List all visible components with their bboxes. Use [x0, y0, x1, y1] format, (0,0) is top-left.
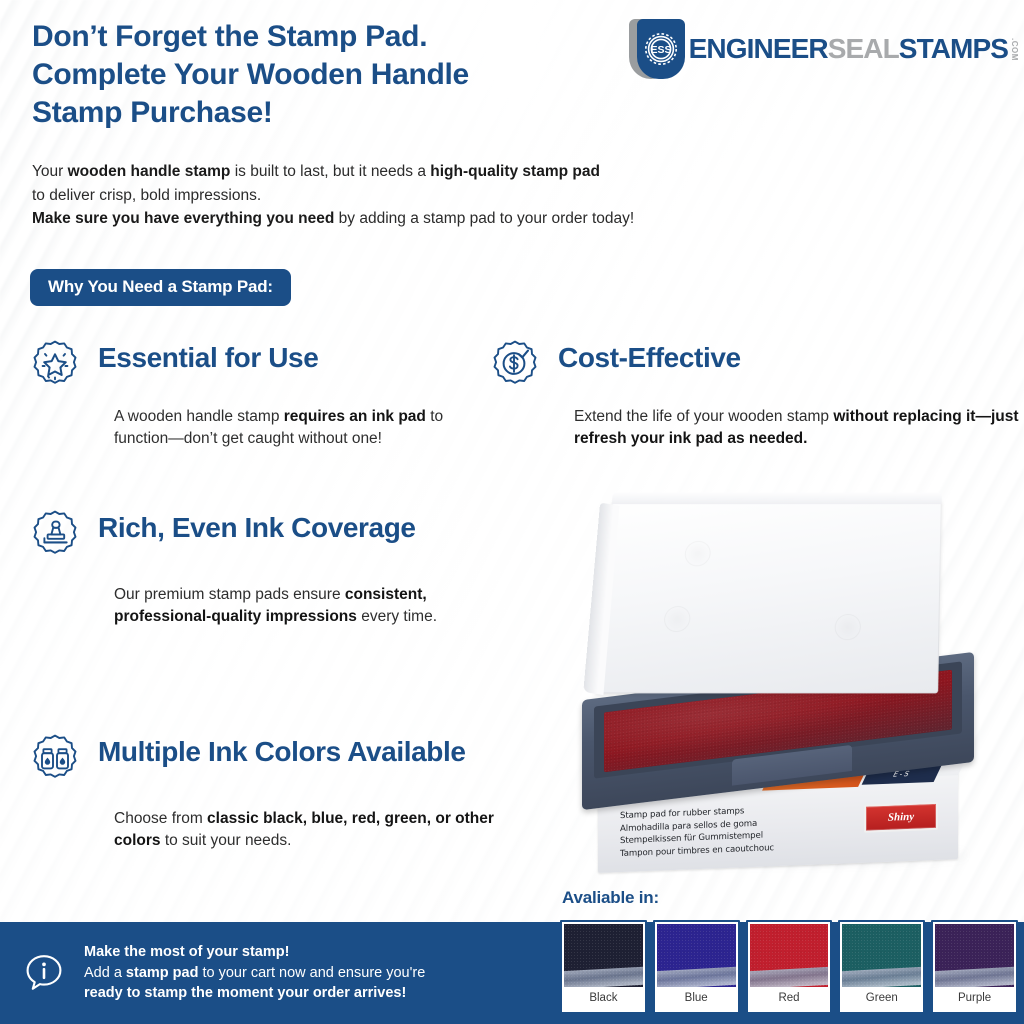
lid-emboss-mark [663, 606, 691, 632]
footer-message: Make the most of your stamp! Add a stamp… [84, 942, 425, 1004]
lid-emboss-mark [684, 541, 712, 566]
color-swatch-row: Black Blue Red Green Purple [560, 920, 1018, 1014]
feature-title: Rich, Even Ink Coverage [98, 506, 428, 543]
feature-multiple-ink-colors: Multiple Ink Colors Available Choose fro… [26, 730, 546, 853]
ink-bottles-badge-icon [26, 732, 84, 790]
lid-rim-left [583, 503, 619, 695]
feature-body: Our premium stamp pads ensure consistent… [114, 584, 494, 629]
product-image-stamp-pad: E-S Stamp pad for rubber stamps Almohadi… [556, 488, 1008, 886]
swatch-label: Red [750, 987, 829, 1010]
lid-rim-top [612, 493, 942, 504]
feature-essential-for-use: Essential for Use A wooden handle stamp … [26, 336, 496, 451]
swatch-blue[interactable]: Blue [653, 920, 740, 1014]
swatch-black[interactable]: Black [560, 920, 647, 1014]
why-you-need-badge: Why You Need a Stamp Pad: [30, 269, 291, 306]
swatch-color-fill [564, 924, 643, 987]
title-line-2: Complete Your Wooden Handle [32, 56, 632, 94]
swatch-purple[interactable]: Purple [931, 920, 1018, 1014]
footer-line-1: Make the most of your stamp! [84, 942, 425, 963]
stamp-pad-lid [595, 498, 941, 693]
logo-word-seal: SEAL [828, 35, 899, 63]
box-language-lines: Stamp pad for rubber stamps Almohadilla … [620, 804, 774, 861]
feature-body: Choose from classic black, blue, red, gr… [114, 808, 544, 853]
swatch-color-fill [842, 924, 921, 987]
feature-title: Multiple Ink Colors Available [98, 730, 498, 767]
page-title: Don’t Forget the Stamp Pad. Complete You… [32, 18, 632, 131]
swatch-green[interactable]: Green [838, 920, 925, 1014]
intro-line-3: Make sure you have everything you need b… [32, 207, 902, 231]
title-line-3: Stamp Purchase! [32, 94, 632, 132]
feature-title: Essential for Use [98, 336, 318, 373]
swatch-label: Purple [935, 987, 1014, 1010]
info-bubble-icon [22, 951, 66, 995]
intro-paragraph: Your wooden handle stamp is built to las… [32, 160, 902, 231]
feature-body: Extend the life of your wooden stamp wit… [574, 406, 1022, 451]
feature-rich-even-ink-coverage: Rich, Even Ink Coverage Our premium stam… [26, 506, 496, 629]
ess-shield-icon: ESS [625, 18, 687, 80]
swatch-label: Black [564, 987, 643, 1010]
intro-line-2: to deliver crisp, bold impressions. [32, 184, 902, 208]
title-line-1: Don’t Forget the Stamp Pad. [32, 18, 632, 56]
logo-word-engineer: ENGINEER [689, 35, 828, 63]
footer-line-3: ready to stamp the moment your order arr… [84, 983, 425, 1004]
swatch-label: Green [842, 987, 921, 1010]
swatch-color-fill [935, 924, 1014, 987]
lid-emboss-mark [834, 614, 861, 640]
promo-page: Don’t Forget the Stamp Pad. Complete You… [0, 0, 1024, 1024]
dollar-check-badge-icon [486, 338, 544, 396]
logo-word-stamps: STAMPS [899, 35, 1008, 63]
footer-line-2: Add a stamp pad to your cart now and ens… [84, 963, 425, 984]
swatch-color-fill [657, 924, 736, 987]
feature-body: A wooden handle stamp requires an ink pa… [114, 406, 496, 451]
rubber-stamp-badge-icon [26, 508, 84, 566]
intro-line-1: Your wooden handle stamp is built to las… [32, 160, 902, 184]
logo-tld: .COM [1010, 38, 1018, 61]
feature-cost-effective: Cost-Effective Extend the life of your w… [486, 336, 1024, 451]
ess-mark-text: ESS [650, 44, 671, 56]
swatch-label: Blue [657, 987, 736, 1010]
swatch-color-fill [750, 924, 829, 987]
shiny-brand-logo: Shiny [864, 802, 938, 833]
star-badge-icon [26, 338, 84, 396]
feature-title: Cost-Effective [558, 336, 741, 373]
swatch-red[interactable]: Red [746, 920, 833, 1014]
available-in-label: Avaliable in: [562, 888, 659, 908]
brand-logo[interactable]: ESS ENGINEER SEAL STAMPS .COM [625, 18, 1018, 80]
